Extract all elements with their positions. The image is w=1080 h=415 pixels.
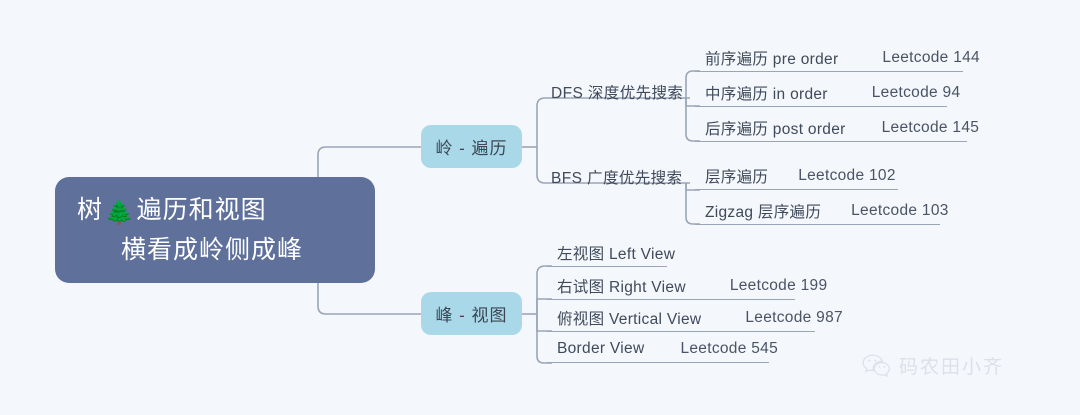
leaf-border-view[interactable]: Border View Leetcode 545 [547,335,769,363]
sub-branch-dfs[interactable]: DFS 深度优先搜索 [551,81,683,103]
leaf-post-order-code: Leetcode 145 [846,119,980,137]
root-title-line-2: 横看成岭侧成峰 [77,231,353,269]
leaf-zigzag-level-order-title: Zigzag 层序遍历 [705,200,821,222]
watermark: 码农田小齐 [862,352,1004,379]
leaf-in-order[interactable]: 中序遍历 in order Leetcode 94 [695,79,947,107]
branch-node-traverse[interactable]: 岭 - 遍历 [421,125,522,168]
leaf-level-order[interactable]: 层序遍历 Leetcode 102 [695,162,898,190]
leaf-right-view[interactable]: 右试图 Right View Leetcode 199 [547,272,795,300]
branch-node-view[interactable]: 峰 - 视图 [421,292,522,335]
evergreen-tree-icon: 🌲 [103,199,137,225]
leaf-in-order-code: Leetcode 94 [828,84,961,102]
branch-node-traverse-label: 岭 - 遍历 [435,134,507,159]
leaf-pre-order-code: Leetcode 144 [838,49,980,67]
wechat-icon [862,354,892,378]
watermark-text: 码农田小齐 [899,352,1004,379]
leaf-pre-order-title: 前序遍历 pre order [705,47,838,69]
leaf-right-view-title: 右试图 Right View [557,275,686,297]
leaf-in-order-title: 中序遍历 in order [705,82,828,104]
leaf-vertical-view-code: Leetcode 987 [701,309,843,327]
root-title-prefix: 树 [77,196,103,224]
leaf-vertical-view[interactable]: 俯视图 Vertical View Leetcode 987 [547,304,815,332]
leaf-level-order-code: Leetcode 102 [768,167,896,185]
branch-node-view-label: 峰 - 视图 [435,301,507,326]
sub-branch-bfs[interactable]: BFS 广度优先搜索 [551,166,682,188]
root-title-suffix: 遍历和视图 [137,196,267,224]
connector-traverse-to-dfs [537,98,690,147]
root-node[interactable]: 树🌲遍历和视图 横看成岭侧成峰 [55,177,375,283]
leaf-level-order-title: 层序遍历 [705,165,768,187]
root-title-line-1: 树🌲遍历和视图 [77,191,353,231]
leaf-post-order[interactable]: 后序遍历 post order Leetcode 145 [695,114,967,142]
leaf-zigzag-level-order-code: Leetcode 103 [821,202,949,220]
leaf-border-view-title: Border View [557,340,644,358]
leaf-post-order-title: 后序遍历 post order [705,117,846,139]
leaf-pre-order[interactable]: 前序遍历 pre order Leetcode 144 [695,44,963,72]
leaf-vertical-view-title: 俯视图 Vertical View [557,307,701,329]
leaf-border-view-code: Leetcode 545 [644,340,778,358]
leaf-zigzag-level-order[interactable]: Zigzag 层序遍历 Leetcode 103 [695,197,940,225]
leaf-left-view-title: 左视图 Left View [557,242,675,264]
leaf-right-view-code: Leetcode 199 [686,277,828,295]
leaf-left-view[interactable]: 左视图 Left View [547,239,667,267]
mindmap-canvas: 树🌲遍历和视图 横看成岭侧成峰 岭 - 遍历 峰 - 视图 DFS 深度优先搜索… [0,0,1080,415]
